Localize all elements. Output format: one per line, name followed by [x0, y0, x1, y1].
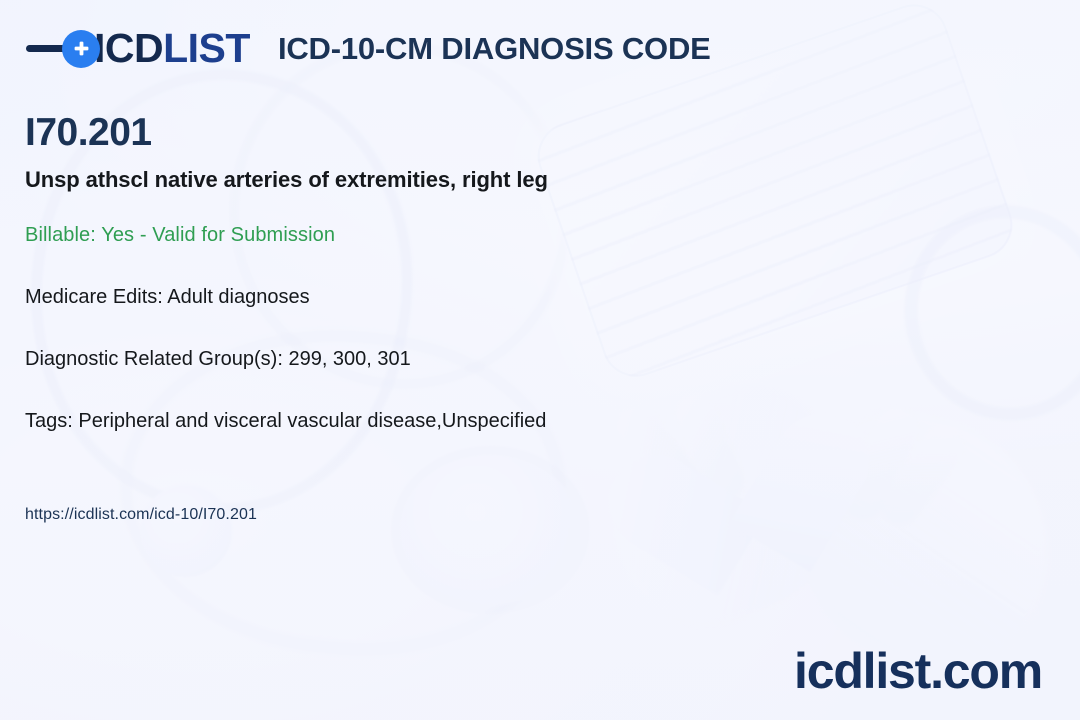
- brand-footer: icdlist.com: [794, 646, 1042, 696]
- diagnostic-related-groups: Diagnostic Related Group(s): 299, 300, 3…: [25, 348, 411, 371]
- header: ICDLIST ICD-10-CM DIAGNOSIS CODE: [26, 28, 711, 69]
- logo-word-list: LIST: [163, 25, 250, 71]
- dash-icon: [26, 45, 67, 52]
- icdlist-logo[interactable]: ICDLIST: [26, 28, 250, 69]
- icd-code-card: ICDLIST ICD-10-CM DIAGNOSIS CODE I70.201…: [0, 0, 1080, 720]
- billable-status: Billable: Yes - Valid for Submission: [25, 224, 335, 247]
- logo-word-icd: ICD: [94, 25, 163, 71]
- logo-wordmark: ICDLIST: [94, 28, 250, 69]
- page-title: ICD-10-CM DIAGNOSIS CODE: [278, 33, 711, 64]
- diagnosis-description: Unsp athscl native arteries of extremiti…: [25, 167, 548, 193]
- diagnosis-code: I70.201: [25, 112, 152, 155]
- plus-icon: [62, 30, 100, 68]
- tags: Tags: Peripheral and visceral vascular d…: [25, 410, 546, 433]
- medicare-edits: Medicare Edits: Adult diagnoses: [25, 286, 310, 309]
- card-content: ICDLIST ICD-10-CM DIAGNOSIS CODE I70.201…: [0, 0, 1080, 720]
- source-url[interactable]: https://icdlist.com/icd-10/I70.201: [25, 506, 257, 524]
